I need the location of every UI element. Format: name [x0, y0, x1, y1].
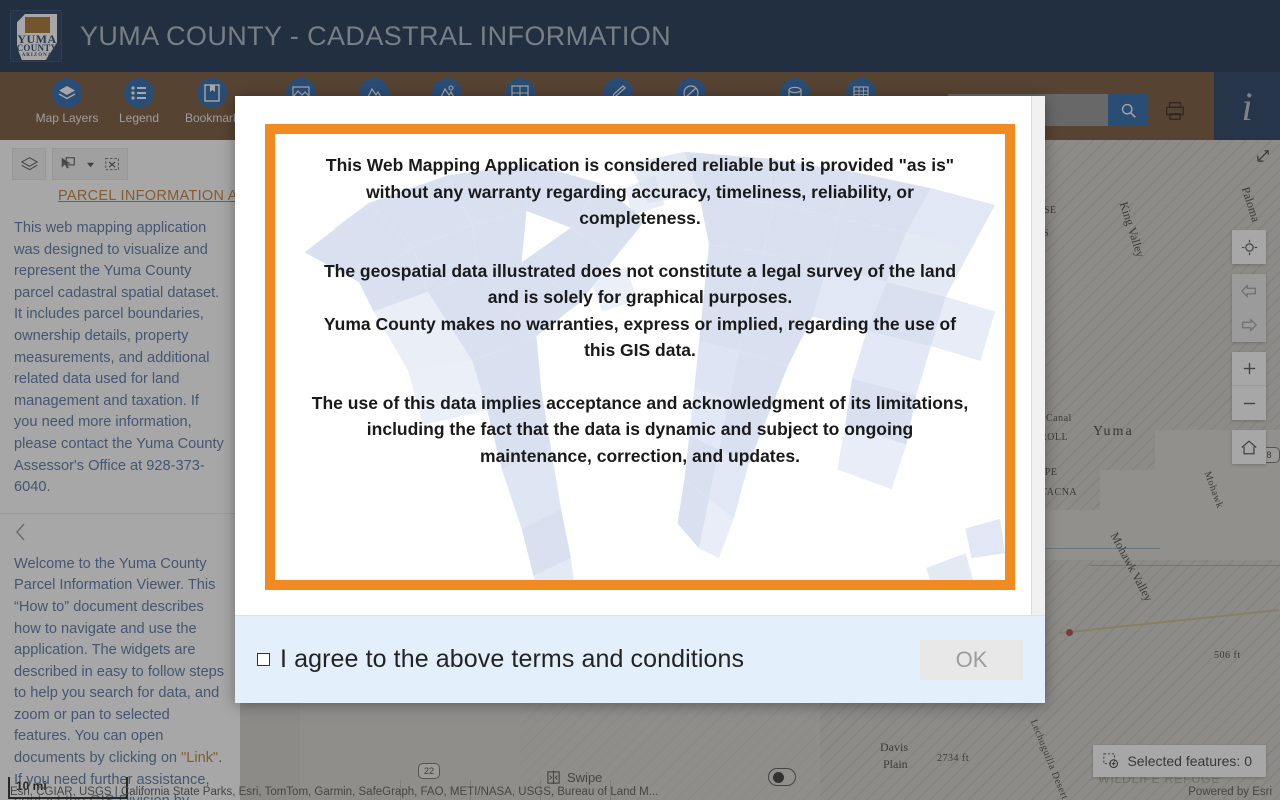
modal-scrollbar[interactable]	[1031, 96, 1045, 615]
agree-label: I agree to the above terms and condition…	[280, 645, 744, 674]
terms-modal-footer: I agree to the above terms and condition…	[235, 615, 1045, 703]
ok-button[interactable]: OK	[920, 640, 1023, 680]
terms-text-body: This Web Mapping Application is consider…	[275, 134, 1005, 469]
terms-paragraph: This Web Mapping Application is consider…	[309, 152, 971, 232]
agree-checkbox[interactable]	[257, 653, 270, 666]
agree-checkbox-row[interactable]: I agree to the above terms and condition…	[257, 645, 920, 674]
terms-paragraph: The geospatial data illustrated does not…	[309, 258, 971, 364]
terms-card: This Web Mapping Application is consider…	[265, 124, 1015, 590]
terms-scroll-area: This Web Mapping Application is consider…	[235, 96, 1045, 615]
terms-paragraph: The use of this data implies acceptance …	[309, 390, 971, 470]
application-root: King ValleyPalomaMohawk ValleyYumaROLLTA…	[0, 0, 1280, 800]
terms-modal: This Web Mapping Application is consider…	[235, 96, 1045, 703]
modal-scrollbar-thumb[interactable]	[1033, 96, 1045, 426]
